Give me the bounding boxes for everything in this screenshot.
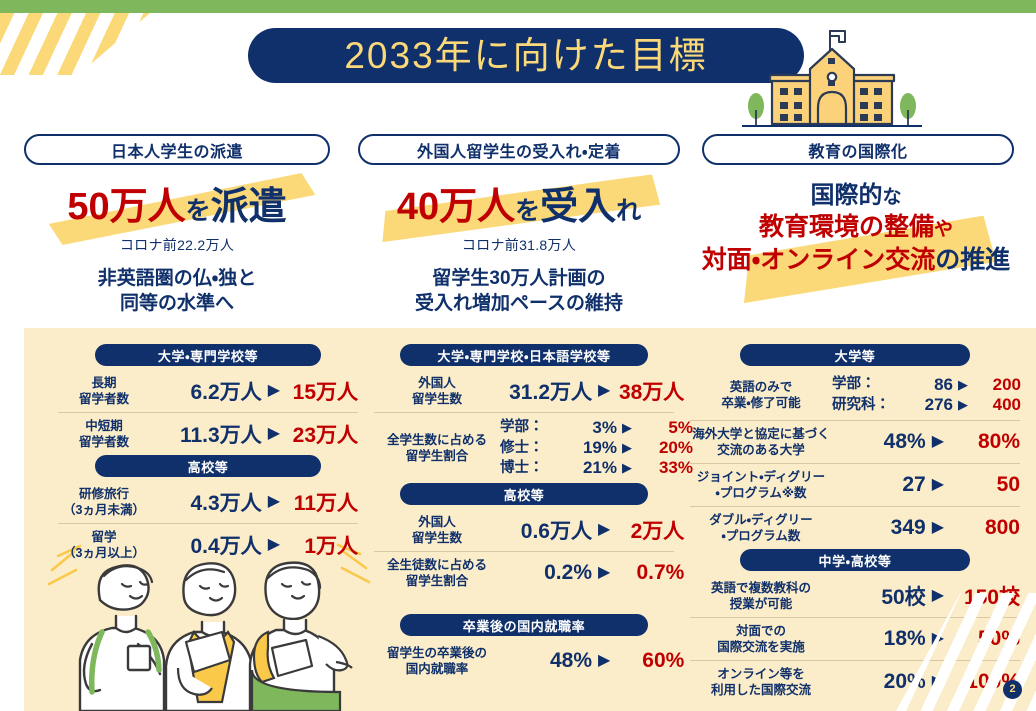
value-target: 5% xyxy=(637,418,693,438)
row-label-line1: 外国人 xyxy=(374,375,500,391)
value-current: 0.4万人 xyxy=(158,530,262,560)
data-column-dispatch: 大学・専門学校等 長期 留学者数 6.2万人 ▶ 15万人 中短期 留学者数 1… xyxy=(58,344,358,566)
value-target: 150校 xyxy=(950,581,1020,611)
headline3-line3: 対面・オンライン交流の推進 xyxy=(680,244,1032,277)
table-row: 留学 （3ヵ月以上） 0.4万人 ▶ 1万人 xyxy=(58,524,358,566)
value-target: 23万人 xyxy=(286,419,358,449)
headline-verb: 受入 xyxy=(540,186,616,228)
arrow-right-icon: ▶ xyxy=(268,537,280,553)
row-label: 全学生数に占める 留学生割合 xyxy=(374,432,500,464)
page-number-badge: 2 xyxy=(1003,680,1022,699)
row-label: 英語のみで 卒業・修了可能 xyxy=(690,379,832,411)
arrow-right-icon: ▶ xyxy=(622,460,632,475)
headline-note: 留学生30万人計画の 受入れ増加ペースの維持 xyxy=(358,266,680,316)
value-current: 3% xyxy=(559,418,617,438)
section-pill-label: 大学・専門学校等 xyxy=(158,346,258,365)
headline-subtext: コロナ前31.8万人 xyxy=(358,235,680,255)
value-target: 20% xyxy=(637,438,693,458)
headline3-line3-red: 対面・オンライン交流 xyxy=(702,246,936,274)
section-pill-label: 卒業後の国内就職率 xyxy=(463,616,585,635)
table-row: 対面での 国際交流を実施 18% ▶ 50% xyxy=(690,618,1020,661)
table-row-multi: 全学生数に占める 留学生割合 学部： 3% ▶ 5% 修士： 19% ▶ 20%… xyxy=(374,413,674,483)
value-current: 0.2% xyxy=(500,561,592,585)
sub-row-key: 修士： xyxy=(500,440,554,457)
row-label: 外国人 留学生数 xyxy=(374,514,500,546)
top-left-stripes-decoration xyxy=(0,13,150,75)
row-label: 対面での 国際交流を実施 xyxy=(690,623,832,655)
sub-row: 学部： 3% ▶ 5% xyxy=(500,418,693,438)
table-row: 外国人 留学生数 31.2万人 ▶ 38万人 xyxy=(374,370,674,413)
value-target: 800 xyxy=(950,516,1020,540)
sub-row-key: 研究科： xyxy=(832,397,896,414)
headline-block-intake: 40万人を受入れ コロナ前31.8万人 留学生30万人計画の 受入れ増加ペースの… xyxy=(358,186,680,316)
row-label-line2: 利用した国際交流 xyxy=(690,682,832,698)
row-label-line2: 留学生割合 xyxy=(374,448,500,464)
row-label: ダブル・ディグリー ・プログラム数 xyxy=(690,512,832,544)
value-current: 11.3万人 xyxy=(158,419,262,449)
row-label-line1: ジョイント・ディグリー xyxy=(690,469,832,485)
page-number-label: 2 xyxy=(1009,684,1015,695)
section-pill-employment: 卒業後の国内就職率 xyxy=(400,614,648,636)
column-header-label: 外国人留学生の受入れ・定着 xyxy=(417,138,621,162)
value-target: 200 xyxy=(973,375,1021,395)
row-label: 全生徒数に占める 留学生割合 xyxy=(374,557,500,589)
sub-row: 研究科： 276 ▶ 400 xyxy=(832,395,1021,415)
row-label-line2: 留学生割合 xyxy=(374,573,500,589)
row-values: 27 ▶ 50 xyxy=(832,473,1020,497)
column-header-label: 日本人学生の派遣 xyxy=(111,138,243,162)
row-values: 18% ▶ 50% xyxy=(832,627,1020,651)
page-title: 2033年に向けた目標 xyxy=(344,37,707,74)
row-label-line1: ダブル・ディグリー xyxy=(690,512,832,528)
value-target: 400 xyxy=(973,395,1021,415)
value-current: 276 xyxy=(901,395,953,415)
row-label-line2: 国際交流を実施 xyxy=(690,639,832,655)
headline3-line1-main: 国際的 xyxy=(810,182,882,209)
row-label-line2: 交流のある大学 xyxy=(690,442,832,458)
table-row: 英語で複数教科の 授業が可能 50校 ▶ 150校 xyxy=(690,575,1020,618)
headline3-line1-tail: な xyxy=(882,187,901,208)
row-label: 英語で複数教科の 授業が可能 xyxy=(690,580,832,612)
row-label-line1: 中短期 xyxy=(58,418,150,434)
arrow-right-icon: ▶ xyxy=(598,565,610,581)
column-header-pill-dispatch: 日本人学生の派遣 xyxy=(24,134,330,165)
row-values: 31.2万人 ▶ 38万人 xyxy=(500,376,684,406)
headline-main: 40万人を受入れ xyxy=(358,186,680,229)
row-subvalues: 学部： 3% ▶ 5% 修士： 19% ▶ 20% 博士： 21% ▶ 33% xyxy=(500,418,693,478)
table-row: ダブル・ディグリー ・プログラム数 349 ▶ 800 xyxy=(690,507,1020,549)
value-target: 1万人 xyxy=(286,530,358,560)
row-values: 0.2% ▶ 0.7% xyxy=(500,561,684,585)
value-target: 50% xyxy=(950,627,1020,651)
value-current: 18% xyxy=(840,627,926,651)
row-label-line1: オンライン等を xyxy=(690,666,832,682)
headline-verb-tail: れ xyxy=(616,197,641,225)
row-values: 48% ▶ 80% xyxy=(832,430,1020,454)
value-current: 21% xyxy=(559,458,617,478)
row-label-line1: 留学 xyxy=(58,529,150,545)
data-column-internationalization: 大学等 英語のみで 卒業・修了可能 学部： 86 ▶ 200 研究科： 276 … xyxy=(690,344,1020,711)
arrow-right-icon: ▶ xyxy=(932,674,944,690)
value-current: 86 xyxy=(901,375,953,395)
value-current: 48% xyxy=(840,430,926,454)
row-values: 11.3万人 ▶ 23万人 xyxy=(150,419,358,449)
row-label-line1: 全学生数に占める xyxy=(374,432,500,448)
spacer xyxy=(374,594,674,614)
headline-verb: 派遣 xyxy=(211,186,287,228)
arrow-right-icon: ▶ xyxy=(932,588,944,604)
arrow-right-icon: ▶ xyxy=(598,522,610,538)
row-label: ジョイント・ディグリー ・プログラム※数 xyxy=(690,469,832,501)
arrow-right-icon: ▶ xyxy=(958,397,968,412)
row-label: 留学生の卒業後の 国内就職率 xyxy=(374,645,500,677)
row-values: 50校 ▶ 150校 xyxy=(832,581,1020,611)
table-row: 海外大学と協定に基づく 交流のある大学 48% ▶ 80% xyxy=(690,421,1020,464)
row-values: 4.3万人 ▶ 11万人 xyxy=(150,487,358,517)
table-row: ジョイント・ディグリー ・プログラム※数 27 ▶ 50 xyxy=(690,464,1020,507)
table-row-multi: 英語のみで 卒業・修了可能 学部： 86 ▶ 200 研究科： 276 ▶ 40… xyxy=(690,370,1020,421)
value-target: 33% xyxy=(637,458,693,478)
row-label: 中短期 留学者数 xyxy=(58,418,150,450)
arrow-right-icon: ▶ xyxy=(598,383,610,399)
arrow-right-icon: ▶ xyxy=(932,631,944,647)
value-current: 0.6万人 xyxy=(500,515,592,545)
row-label-line1: 長期 xyxy=(58,375,150,391)
headline3-line3-navy: の推進 xyxy=(935,246,1010,274)
school-building-illustration xyxy=(742,22,922,142)
value-current: 50校 xyxy=(840,581,926,611)
row-label: 留学 （3ヵ月以上） xyxy=(58,529,150,561)
headline-note-line1: 留学生30万人計画の xyxy=(358,266,680,291)
row-label-line1: 外国人 xyxy=(374,514,500,530)
arrow-right-icon: ▶ xyxy=(268,494,280,510)
row-label-line2: ・プログラム※数 xyxy=(690,485,832,501)
value-current: 4.3万人 xyxy=(158,487,262,517)
headline-subtext: コロナ前22.2万人 xyxy=(24,235,330,255)
column-header-pill-intake: 外国人留学生の受入れ・定着 xyxy=(358,134,680,165)
row-values: 0.6万人 ▶ 2万人 xyxy=(500,515,684,545)
headline-note-line2: 同等の水準へ xyxy=(24,291,330,316)
slide-title-pill: 2033年に向けた目標 xyxy=(248,28,804,83)
sub-row-key: 学部： xyxy=(832,376,896,393)
sub-row: 修士： 19% ▶ 20% xyxy=(500,438,693,458)
value-target: 11万人 xyxy=(286,487,358,517)
arrow-right-icon: ▶ xyxy=(268,426,280,442)
headline-number: 40万人 xyxy=(397,186,515,228)
row-label: 外国人 留学生数 xyxy=(374,375,500,407)
section-pill-highschool: 高校等 xyxy=(400,483,648,505)
headline-note: 非英語圏の仏・独と 同等の水準へ xyxy=(24,266,330,316)
row-label-line2: 留学生数 xyxy=(374,530,500,546)
row-label-line1: 全生徒数に占める xyxy=(374,557,500,573)
row-values: 6.2万人 ▶ 15万人 xyxy=(150,376,358,406)
table-row: オンライン等を 利用した国際交流 20% ▶ 100% xyxy=(690,661,1020,703)
section-pill-university-lang: 大学・専門学校・日本語学校等 xyxy=(400,344,648,366)
sub-row-key: 博士： xyxy=(500,460,554,477)
value-current: 27 xyxy=(840,473,926,497)
section-pill-label: 大学等 xyxy=(835,346,876,365)
row-label-line1: 対面での xyxy=(690,623,832,639)
row-values: 20% ▶ 100% xyxy=(832,670,1020,694)
value-current: 6.2万人 xyxy=(158,376,262,406)
value-target: 2万人 xyxy=(616,515,684,545)
row-label-line2: 国内就職率 xyxy=(374,661,500,677)
headline-particle: を xyxy=(186,197,211,225)
value-current: 31.2万人 xyxy=(500,376,592,406)
headline-number: 50万人 xyxy=(67,186,185,228)
slide-canvas: 2033年に向けた目標 xyxy=(0,0,1036,711)
column-header-label: 教育の国際化 xyxy=(808,138,907,162)
headline3-line2-tail: や xyxy=(934,219,953,240)
table-row: 全生徒数に占める 留学生割合 0.2% ▶ 0.7% xyxy=(374,552,674,594)
section-pill-label: 大学・専門学校・日本語学校等 xyxy=(437,346,610,365)
row-label-line2: 留学生数 xyxy=(374,391,500,407)
row-values: 349 ▶ 800 xyxy=(832,516,1020,540)
arrow-right-icon: ▶ xyxy=(958,377,968,392)
headline-main: 50万人を派遣 xyxy=(24,186,330,229)
table-row: 外国人 留学生数 0.6万人 ▶ 2万人 xyxy=(374,509,674,552)
table-row: 中短期 留学者数 11.3万人 ▶ 23万人 xyxy=(58,413,358,455)
row-label: 海外大学と協定に基づく 交流のある大学 xyxy=(690,426,832,458)
section-pill-highschool: 高校等 xyxy=(95,455,321,477)
row-label-line2: 授業が可能 xyxy=(690,596,832,612)
arrow-right-icon: ▶ xyxy=(598,653,610,669)
headline3-line2: 教育環境の整備や xyxy=(680,211,1032,244)
headline3-line1: 国際的な xyxy=(680,180,1032,211)
table-row: 研修旅行 （3ヵ月未満） 4.3万人 ▶ 11万人 xyxy=(58,481,358,524)
section-pill-university: 大学・専門学校等 xyxy=(95,344,321,366)
row-label-line1: 海外大学と協定に基づく xyxy=(690,426,832,442)
value-target: 38万人 xyxy=(616,376,684,406)
row-label-line1: 英語で複数教科の xyxy=(690,580,832,596)
section-pill-label: 高校等 xyxy=(504,485,545,504)
row-subvalues: 学部： 86 ▶ 200 研究科： 276 ▶ 400 xyxy=(832,375,1021,415)
row-label-line1: 留学生の卒業後の xyxy=(374,645,500,661)
section-pill-label: 中学・高校等 xyxy=(818,551,891,570)
row-values: 0.4万人 ▶ 1万人 xyxy=(150,530,358,560)
row-label-line2: 留学者数 xyxy=(58,391,150,407)
row-values: 48% ▶ 60% xyxy=(500,649,684,673)
row-label-line1: 研修旅行 xyxy=(58,486,150,502)
sub-row: 学部： 86 ▶ 200 xyxy=(832,375,1021,395)
section-pill-label: 高校等 xyxy=(188,457,229,476)
value-current: 20% xyxy=(840,670,926,694)
table-row: 長期 留学者数 6.2万人 ▶ 15万人 xyxy=(58,370,358,413)
row-label-line2: （3ヵ月以上） xyxy=(58,545,150,561)
arrow-right-icon: ▶ xyxy=(932,520,944,536)
row-label-line2: 留学者数 xyxy=(58,434,150,450)
row-label-line1: 英語のみで xyxy=(690,379,832,395)
headline-particle: を xyxy=(515,197,540,225)
row-label: オンライン等を 利用した国際交流 xyxy=(690,666,832,698)
value-target: 60% xyxy=(616,649,684,673)
headline-block-internationalization: 国際的な 教育環境の整備や 対面・オンライン交流の推進 xyxy=(680,180,1032,276)
sub-row-key: 学部： xyxy=(500,419,554,436)
row-label-line2: ・プログラム数 xyxy=(690,528,832,544)
value-target: 80% xyxy=(950,430,1020,454)
value-current: 349 xyxy=(840,516,926,540)
headline-note-line2: 受入れ増加ペースの維持 xyxy=(358,291,680,316)
row-label: 長期 留学者数 xyxy=(58,375,150,407)
sub-row: 博士： 21% ▶ 33% xyxy=(500,458,693,478)
row-label-line2: （3ヵ月未満） xyxy=(58,502,150,518)
arrow-right-icon: ▶ xyxy=(268,383,280,399)
row-label: 研修旅行 （3ヵ月未満） xyxy=(58,486,150,518)
data-column-intake: 大学・専門学校・日本語学校等 外国人 留学生数 31.2万人 ▶ 38万人 全学… xyxy=(374,344,674,682)
section-pill-junior-highschool: 中学・高校等 xyxy=(740,549,970,571)
arrow-right-icon: ▶ xyxy=(622,420,632,435)
arrow-right-icon: ▶ xyxy=(622,440,632,455)
headline-note-line1: 非英語圏の仏・独と xyxy=(24,266,330,291)
table-row: 留学生の卒業後の 国内就職率 48% ▶ 60% xyxy=(374,640,674,682)
column-header-pill-internationalization: 教育の国際化 xyxy=(702,134,1014,165)
headline-block-dispatch: 50万人を派遣 コロナ前22.2万人 非英語圏の仏・独と 同等の水準へ xyxy=(24,186,330,316)
top-green-bar xyxy=(0,0,1036,13)
value-target: 0.7% xyxy=(616,561,684,585)
value-current: 48% xyxy=(500,649,592,673)
arrow-right-icon: ▶ xyxy=(932,477,944,493)
value-target: 15万人 xyxy=(286,376,358,406)
value-target: 50 xyxy=(950,473,1020,497)
value-current: 19% xyxy=(559,438,617,458)
row-label-line2: 卒業・修了可能 xyxy=(690,395,832,411)
section-pill-university: 大学等 xyxy=(740,344,970,366)
headline3-line2-main: 教育環境の整備 xyxy=(759,213,934,241)
arrow-right-icon: ▶ xyxy=(932,434,944,450)
